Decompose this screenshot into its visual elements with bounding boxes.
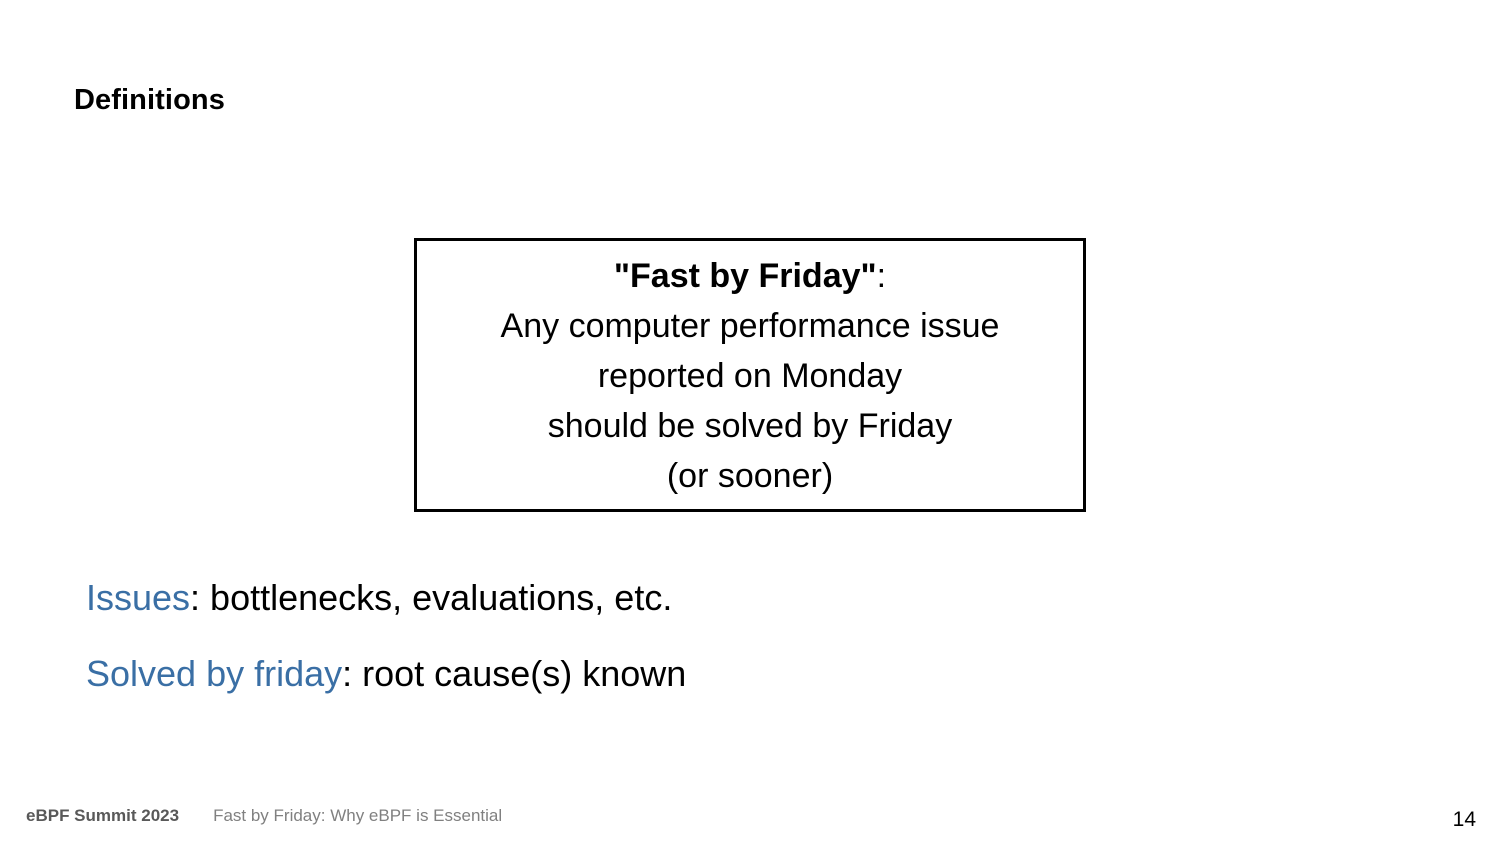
- definition-body-line-4: (or sooner): [667, 451, 833, 501]
- footer-brand: eBPF Summit 2023: [26, 806, 179, 826]
- definition-callout-box: "Fast by Friday": Any computer performan…: [414, 238, 1086, 512]
- page-number: 14: [1453, 808, 1476, 832]
- statement-issues-description: : bottlenecks, evaluations, etc.: [190, 577, 672, 618]
- definition-term: "Fast by Friday": [614, 257, 877, 295]
- definition-headline-suffix: :: [877, 257, 886, 295]
- statement-solved-term: Solved by friday: [86, 653, 342, 694]
- statement-solved-by-friday: Solved by friday: root cause(s) known: [86, 653, 686, 695]
- definition-body-line-2: reported on Monday: [598, 351, 902, 401]
- footer-deck-title: Fast by Friday: Why eBPF is Essential: [213, 806, 502, 826]
- statement-solved-description: : root cause(s) known: [342, 653, 686, 694]
- definition-body-line-1: Any computer performance issue: [501, 301, 1000, 351]
- statement-issues: Issues: bottlenecks, evaluations, etc.: [86, 577, 672, 619]
- slide-footer: eBPF Summit 2023 Fast by Friday: Why eBP…: [26, 806, 502, 826]
- slide-canvas: Definitions "Fast by Friday": Any comput…: [0, 0, 1500, 844]
- definition-headline: "Fast by Friday":: [614, 251, 886, 301]
- definition-body-line-3: should be solved by Friday: [548, 401, 952, 451]
- page-title: Definitions: [74, 84, 225, 117]
- statement-issues-term: Issues: [86, 577, 190, 618]
